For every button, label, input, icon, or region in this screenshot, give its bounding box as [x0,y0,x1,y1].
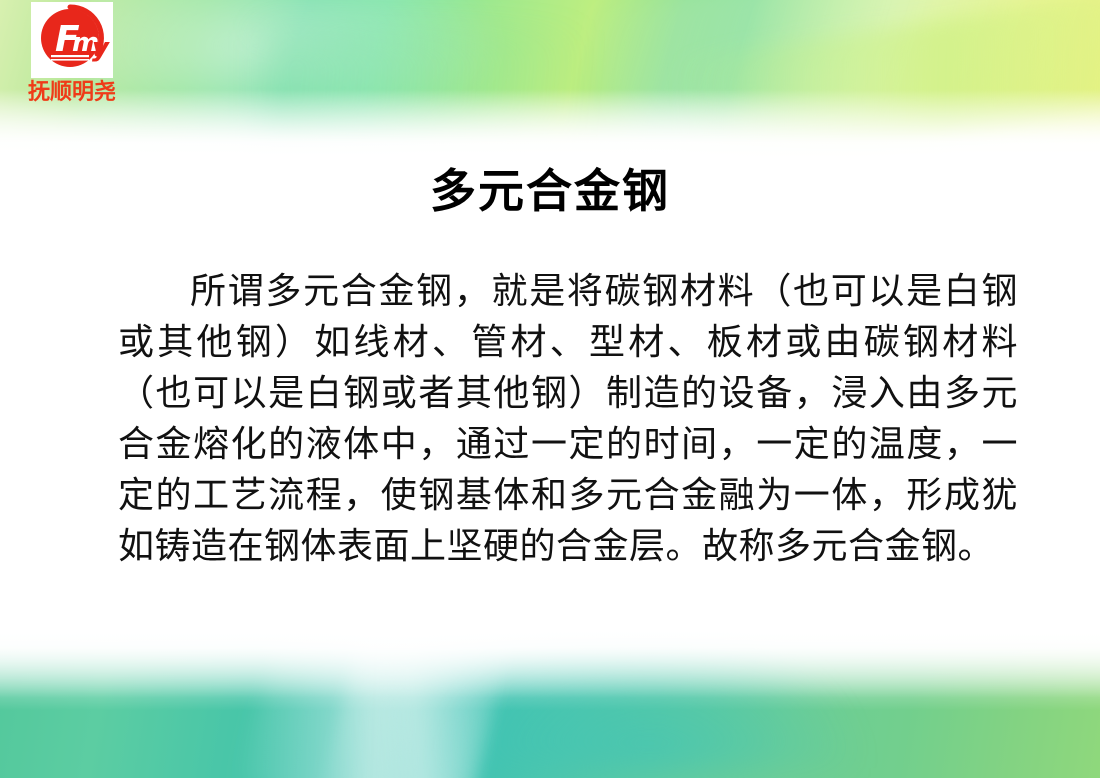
company-logo: F m y [31,2,113,78]
fmy-circle-logo-icon: F m y [31,2,113,78]
company-name: 抚顺明尧 [12,81,132,105]
slide-body-text: 所谓多元合金钢，就是将碳钢材料（也可以是白钢或其他钢）如线材、管材、型材、板材或… [118,266,1018,572]
slide-title: 多元合金钢 [0,166,1100,217]
svg-text:y: y [92,33,110,63]
slide-content: 多元合金钢 所谓多元合金钢，就是将碳钢材料（也可以是白钢或其他钢）如线材、管材、… [0,0,1100,778]
presentation-slide: F m y 抚顺明尧 多元合金钢 所谓多元合金钢，就是将碳钢材料（也可以是白钢或… [0,0,1100,778]
brand-block: F m y 抚顺明尧 [12,2,132,105]
